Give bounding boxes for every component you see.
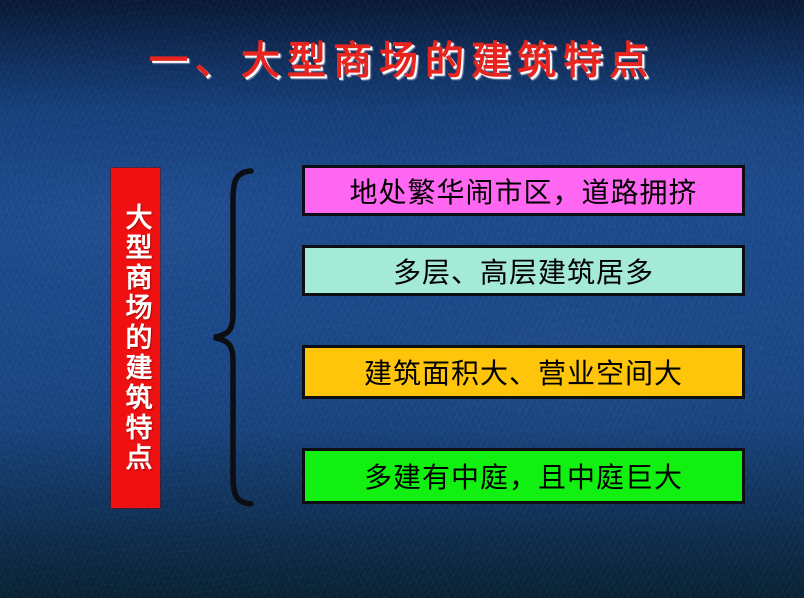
feature-box-1[interactable]: 地处繁华闹市区，道路拥挤 xyxy=(302,165,745,216)
feature-box-2-label: 多层、高层建筑居多 xyxy=(393,251,654,291)
feature-box-4[interactable]: 多建有中庭，且中庭巨大 xyxy=(302,448,745,504)
feature-box-3[interactable]: 建筑面积大、营业空间大 xyxy=(302,345,745,399)
feature-box-2[interactable]: 多层、高层建筑居多 xyxy=(302,245,745,296)
feature-box-3-label: 建筑面积大、营业空间大 xyxy=(364,352,683,392)
vertical-topic-banner: 大型商场的建筑特点 xyxy=(111,168,160,508)
curly-brace-icon xyxy=(205,165,261,510)
slide-canvas: 一、大型商场的建筑特点 大型商场的建筑特点 地处繁华闹市区，道路拥挤 多层、高层… xyxy=(0,0,804,598)
feature-box-1-label: 地处繁华闹市区，道路拥挤 xyxy=(349,171,697,211)
page-title: 一、大型商场的建筑特点 xyxy=(0,38,804,84)
feature-box-4-label: 多建有中庭，且中庭巨大 xyxy=(364,456,683,496)
vertical-topic-banner-label: 大型商场的建筑特点 xyxy=(119,203,153,473)
